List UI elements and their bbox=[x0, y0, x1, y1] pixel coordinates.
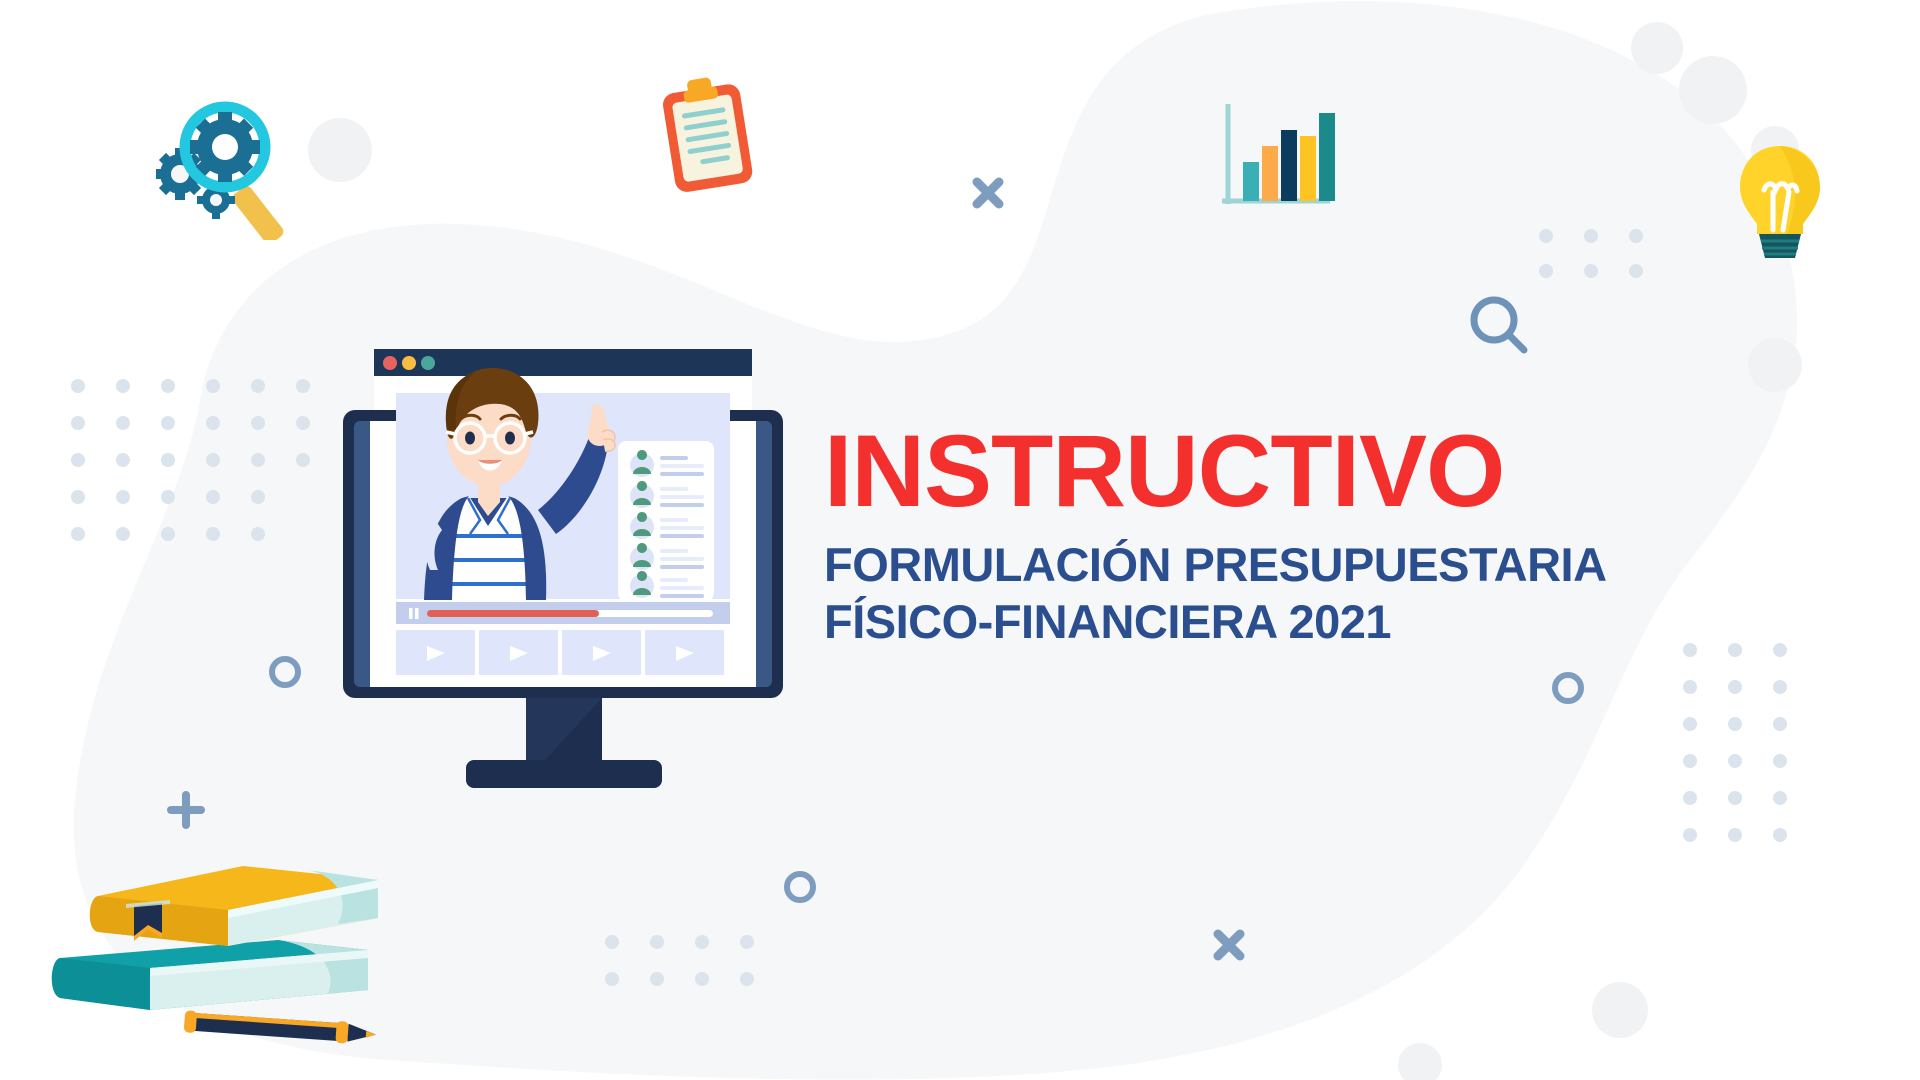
close-x-icon-top bbox=[977, 182, 999, 204]
chart-bar-4 bbox=[1300, 136, 1316, 201]
chart-bar-5 bbox=[1319, 113, 1335, 201]
page-subtitle-line-1: FORMULACIÓN PRESUPUESTARIA bbox=[824, 536, 1644, 593]
lightbulb-icon bbox=[1733, 142, 1828, 262]
close-x-icon-bottom bbox=[1218, 934, 1240, 956]
bar-chart-icon bbox=[1218, 100, 1338, 215]
title-block: INSTRUCTIVO FORMULACIÓN PRESUPUESTARIA F… bbox=[824, 420, 1644, 651]
chart-bar-3 bbox=[1281, 130, 1297, 201]
slide-canvas: INSTRUCTIVO FORMULACIÓN PRESUPUESTARIA F… bbox=[0, 0, 1920, 1080]
magnifier-gears-icon bbox=[155, 100, 305, 240]
pen-icon bbox=[176, 1010, 386, 1052]
monitor-illustration bbox=[330, 320, 800, 800]
list-panel bbox=[618, 441, 714, 622]
dot-grid-left bbox=[71, 379, 310, 541]
page-subtitle: FORMULACIÓN PRESUPUESTARIA FÍSICO-FINANC… bbox=[824, 536, 1644, 651]
chart-bar-1 bbox=[1243, 162, 1259, 201]
dot-grid-right bbox=[1683, 643, 1787, 842]
dot-grid-top-right bbox=[1539, 229, 1643, 278]
circle-outline-center bbox=[787, 874, 813, 900]
browser-dot-yellow bbox=[402, 356, 416, 370]
thumbnail-2 bbox=[479, 630, 558, 675]
clipboard-icon bbox=[648, 72, 768, 197]
book-top-yellow bbox=[90, 866, 378, 946]
page-subtitle-line-2: FÍSICO-FINANCIERA 2021 bbox=[824, 593, 1644, 650]
chart-bar-2 bbox=[1262, 146, 1278, 201]
dot-grid-bottom bbox=[605, 935, 754, 986]
circle-outline-right bbox=[1555, 675, 1581, 701]
search-outline-icon bbox=[1474, 300, 1524, 350]
browser-dot-red bbox=[383, 356, 397, 370]
page-title: INSTRUCTIVO bbox=[824, 420, 1644, 522]
thumbnail-3 bbox=[562, 630, 641, 675]
thumbnail-1 bbox=[396, 630, 475, 675]
thumbnail-4 bbox=[645, 630, 724, 675]
browser-dot-teal bbox=[421, 356, 435, 370]
monitor-stand bbox=[466, 698, 662, 788]
books-stack-icon bbox=[38, 818, 408, 1033]
progress-fill bbox=[427, 610, 599, 617]
video-progress-bar bbox=[396, 602, 730, 624]
book-bottom-teal bbox=[52, 940, 368, 1010]
circle-outline-left bbox=[272, 659, 298, 685]
